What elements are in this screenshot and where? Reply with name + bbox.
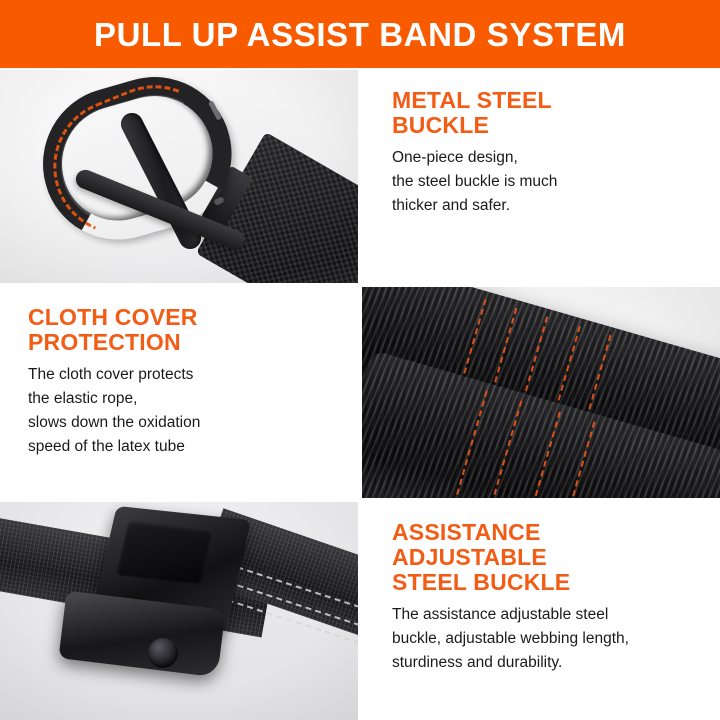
feature-description: The assistance adjustable steel buckle, … — [392, 603, 710, 675]
feature-row-cloth-cover-protection: CLOTH COVER PROTECTION The cloth cover p… — [0, 287, 720, 498]
photo-cloth-cover-protection — [362, 287, 720, 498]
text-assistance-adjustable-steel-buckle: ASSISTANCE ADJUSTABLE STEEL BUCKLE The a… — [362, 502, 720, 720]
heading-line: ADJUSTABLE — [392, 545, 710, 570]
orange-stitch-line — [485, 401, 522, 498]
description-line: sturdiness and durability. — [392, 651, 710, 675]
heading-line: PROTECTION — [28, 330, 348, 355]
description-line: One-piece design, — [392, 146, 710, 170]
text-cloth-cover-protection: CLOTH COVER PROTECTION The cloth cover p… — [0, 287, 358, 498]
heading-line: METAL STEEL — [392, 88, 710, 113]
orange-stitch-line — [558, 422, 595, 498]
description-line: slows down the oxidation — [28, 411, 348, 435]
header-banner: PULL UP ASSIST BAND SYSTEM — [0, 0, 720, 68]
text-metal-steel-buckle: METAL STEEL BUCKLE One-piece design, the… — [362, 70, 720, 283]
description-line: speed of the latex tube — [28, 435, 348, 459]
product-feature-infographic: PULL UP ASSIST BAND SYSTEM METAL STEEL B… — [0, 0, 720, 720]
cam-buckle-slot-shape — [116, 520, 214, 584]
photo-assistance-adjustable-steel-buckle — [0, 502, 358, 720]
heading-line: STEEL BUCKLE — [392, 570, 710, 595]
carabiner-photo-scene — [0, 70, 358, 283]
orange-stitch-line — [524, 412, 561, 498]
page-title: PULL UP ASSIST BAND SYSTEM — [94, 18, 626, 51]
description-line: The assistance adjustable steel — [392, 603, 710, 627]
cam-buckle-photo-scene — [0, 502, 358, 720]
description-line: The cloth cover protects — [28, 363, 348, 387]
description-line: thicker and safer. — [392, 194, 710, 218]
cam-buckle-knob-shape — [148, 638, 178, 668]
feature-description: One-piece design, the steel buckle is mu… — [392, 146, 710, 218]
feature-description: The cloth cover protects the elastic rop… — [28, 363, 348, 459]
description-line: the steel buckle is much — [392, 170, 710, 194]
feature-row-assistance-adjustable-steel-buckle: ASSISTANCE ADJUSTABLE STEEL BUCKLE The a… — [0, 502, 720, 720]
description-line: the elastic rope, — [28, 387, 348, 411]
description-line: buckle, adjustable webbing length, — [392, 627, 710, 651]
heading-line: CLOTH COVER — [28, 305, 348, 330]
heading-line: ASSISTANCE — [392, 520, 710, 545]
cloth-sleeve-photo-scene — [362, 287, 720, 498]
feature-heading: ASSISTANCE ADJUSTABLE STEEL BUCKLE — [392, 520, 710, 595]
orange-stitch-line — [451, 391, 488, 498]
photo-metal-steel-buckle — [0, 70, 358, 283]
feature-row-metal-steel-buckle: METAL STEEL BUCKLE One-piece design, the… — [0, 70, 720, 283]
feature-heading: CLOTH COVER PROTECTION — [28, 305, 348, 355]
heading-line: BUCKLE — [392, 113, 710, 138]
feature-heading: METAL STEEL BUCKLE — [392, 88, 710, 138]
